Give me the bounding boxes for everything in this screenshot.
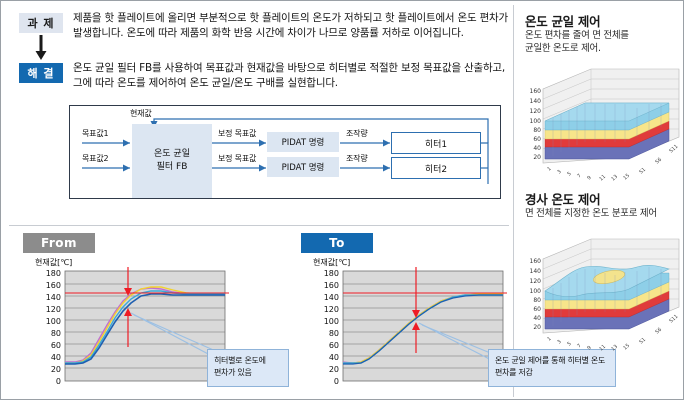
task-badge: 과 제 (19, 13, 63, 33)
svg-text:5: 5 (566, 171, 572, 178)
to-badge: To (301, 233, 373, 253)
svg-text:60: 60 (51, 341, 61, 350)
svg-text:160: 160 (324, 281, 339, 290)
flow-label-input1: 목표값1 (82, 128, 108, 139)
svg-text:60: 60 (533, 136, 541, 143)
uniform-control-title: 온도 균일 제어 (525, 11, 600, 30)
svg-text:180: 180 (324, 269, 339, 278)
flow-label-corrected2: 보정 목표값 (218, 153, 256, 164)
svg-text:80: 80 (329, 329, 339, 338)
uniform-control-subtitle: 온도 편차를 줄여 면 전체를 균일한 온도로 제어. (525, 29, 681, 55)
svg-text:60: 60 (329, 341, 339, 350)
svg-text:13: 13 (610, 344, 619, 353)
svg-text:7: 7 (576, 343, 582, 350)
svg-text:180: 180 (46, 269, 61, 278)
svg-text:100: 100 (46, 317, 61, 326)
heater-block-2: 히터2 (391, 157, 481, 179)
gradient-control-title: 경사 온도 제어 (525, 189, 600, 208)
svg-text:S6: S6 (654, 157, 663, 166)
svg-text:S1: S1 (638, 167, 647, 176)
to-line-chart: 180 160 140 120 100 80 60 40 20 0 (309, 267, 509, 395)
slide-root: 과 제 해 결 제품을 핫 플레이트에 올리면 부분적으로 핫 플레이트의 온도… (0, 0, 684, 400)
svg-text:7: 7 (576, 173, 582, 180)
svg-text:20: 20 (533, 324, 541, 331)
solution-badge: 해 결 (19, 63, 63, 83)
solution-paragraph: 온도 균일 필터 FB를 사용하여 목표값과 현재값을 바탕으로 히터별로 적절… (73, 61, 515, 91)
svg-text:1: 1 (546, 336, 552, 343)
filter-line-1: 온도 균일 (154, 148, 190, 161)
flow-label-manipulated2: 조작량 (346, 153, 367, 164)
svg-text:140: 140 (530, 98, 542, 105)
flow-label-input2: 목표값2 (82, 153, 108, 164)
svg-text:40: 40 (533, 145, 541, 152)
svg-text:20: 20 (329, 365, 339, 374)
svg-text:40: 40 (51, 353, 61, 362)
svg-text:160: 160 (46, 281, 61, 290)
svg-text:15: 15 (622, 343, 631, 352)
svg-text:120: 120 (530, 108, 542, 115)
gradient-temperature-surface-chart: 160 140 120 100 80 60 40 20 (519, 233, 684, 355)
svg-text:3: 3 (556, 169, 562, 176)
svg-text:3: 3 (556, 339, 562, 346)
svg-text:11: 11 (598, 174, 607, 183)
svg-text:60: 60 (533, 306, 541, 313)
svg-text:160: 160 (530, 258, 542, 265)
section-divider (9, 225, 509, 226)
svg-text:40: 40 (329, 353, 339, 362)
pidat-block-2: PIDAT 명령 (267, 157, 339, 177)
svg-text:20: 20 (533, 154, 541, 161)
svg-text:40: 40 (533, 315, 541, 322)
svg-text:140: 140 (530, 268, 542, 275)
gradient-control-subtitle: 면 전체를 지정한 온도 분포로 제어 (525, 207, 683, 220)
svg-text:100: 100 (324, 317, 339, 326)
svg-text:15: 15 (622, 173, 631, 182)
svg-text:140: 140 (46, 293, 61, 302)
svg-text:S11: S11 (668, 314, 679, 325)
temperature-uniform-filter-block: 온도 균일 필터 FB (132, 124, 212, 198)
svg-text:80: 80 (51, 329, 61, 338)
flow-label-feedback: 현재값 (130, 108, 151, 119)
svg-text:0: 0 (334, 377, 339, 386)
svg-text:S11: S11 (668, 144, 679, 155)
svg-text:160: 160 (530, 88, 542, 95)
task-paragraph: 제품을 핫 플레이트에 올리면 부분적으로 핫 플레이트의 온도가 저하되고 핫… (73, 11, 515, 41)
pidat-block-1: PIDAT 명령 (267, 132, 339, 152)
heater-block-1: 히터1 (391, 132, 481, 154)
flow-label-manipulated1: 조작량 (346, 128, 367, 139)
from-line-chart: 180 160 140 120 100 80 60 40 20 0 (31, 267, 231, 395)
filter-line-2: 필터 FB (157, 161, 188, 174)
svg-text:9: 9 (586, 175, 592, 182)
svg-text:80: 80 (533, 297, 541, 304)
svg-text:S6: S6 (654, 327, 663, 336)
right-column: 온도 균일 제어 온도 편차를 줄여 면 전체를 균일한 온도로 제어. 160… (519, 1, 684, 399)
svg-text:13: 13 (610, 174, 619, 183)
uniform-temperature-surface-chart: 160 140 120 100 80 60 40 20 (519, 63, 684, 185)
svg-text:1: 1 (546, 166, 552, 173)
svg-text:100: 100 (530, 288, 542, 295)
svg-text:20: 20 (51, 365, 61, 374)
right-column-divider (513, 5, 514, 397)
svg-text:120: 120 (324, 305, 339, 314)
svg-text:9: 9 (586, 345, 592, 352)
svg-text:5: 5 (566, 341, 572, 348)
svg-text:S1: S1 (638, 337, 647, 346)
svg-text:140: 140 (324, 293, 339, 302)
flow-label-corrected1: 보정 목표값 (218, 128, 256, 139)
svg-text:100: 100 (530, 118, 542, 125)
down-arrow-icon (34, 35, 48, 61)
svg-text:80: 80 (533, 127, 541, 134)
svg-text:0: 0 (56, 377, 61, 386)
control-flow-diagram: 목표값1 목표값2 현재값 온도 균일 필터 FB 보정 목표값 보정 목표값 … (69, 105, 501, 199)
svg-text:120: 120 (530, 278, 542, 285)
from-badge: From (23, 233, 95, 253)
from-callout: 히터별로 온도에 편차가 있음 (207, 349, 289, 387)
svg-text:11: 11 (598, 344, 607, 353)
svg-text:120: 120 (46, 305, 61, 314)
